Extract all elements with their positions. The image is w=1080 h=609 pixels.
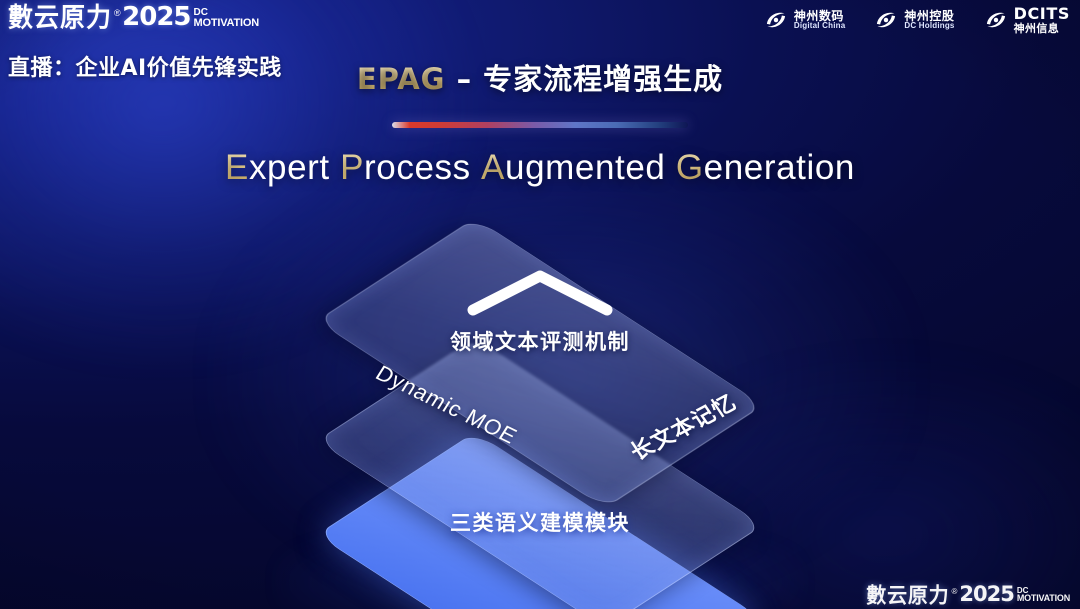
corp-en-1: DC Holdings — [904, 22, 954, 30]
watermark-year: 2025 — [959, 584, 1013, 605]
corp-cn-2: DCITS — [1014, 6, 1070, 23]
diagram-label-top: 领域文本评测机制 — [450, 326, 630, 356]
subtitle-rest-generation: eneration — [704, 148, 855, 187]
swirl-logo-icon — [873, 7, 899, 33]
subtitle-cap-a: A — [481, 148, 505, 187]
page-subtitle-english: Expert Process Augmented Generation — [0, 148, 1080, 188]
watermark-cn: 數云原力 — [866, 584, 949, 605]
corp-en-0: Digital China — [794, 22, 846, 30]
brand-logo: 數云原力 ® 2025 DC MOTIVATION — [8, 4, 259, 30]
brand-logo-cn: 數云原力 — [8, 4, 112, 31]
page-title-cn: 专家流程增强生成 — [483, 62, 723, 96]
swirl-logo-icon — [983, 7, 1009, 33]
subtitle-rest-process: rocess — [364, 148, 471, 187]
corp-logo-digital-china-text: 神州数码 Digital China — [794, 10, 846, 31]
corp-en-2: 神州信息 — [1014, 23, 1070, 35]
brand-logo-registered: ® — [114, 9, 120, 18]
diagram-label-bottom: 三类语义建模模块 — [450, 507, 630, 537]
corp-logo-dcits-text: DCITS 神州信息 — [1014, 6, 1070, 34]
page-title-acronym: EPAG — [357, 62, 446, 96]
title-divider — [392, 122, 688, 128]
watermark-registered: ® — [951, 588, 957, 596]
subtitle-cap-p: P — [340, 148, 364, 187]
subtitle-cap-g: G — [676, 148, 704, 187]
subtitle-cap-e: E — [225, 148, 249, 187]
subtitle-rest-expert: xpert — [249, 148, 330, 187]
footer-watermark-logo: 數云原力 ® 2025 DC MOTIVATION — [866, 584, 1070, 605]
layered-architecture-diagram: 领域文本评测机制 Dynamic MOE 长文本记忆 三类语义建模模块 — [0, 222, 1080, 562]
subtitle-rest-augmented: ugmented — [505, 148, 665, 187]
chevron-up-icon — [465, 264, 615, 320]
corp-logo-dc-holdings-text: 神州控股 DC Holdings — [904, 10, 954, 31]
swirl-logo-icon — [763, 7, 789, 33]
corp-logo-dc-holdings: 神州控股 DC Holdings — [873, 7, 954, 33]
corp-logo-dcits: DCITS 神州信息 — [983, 6, 1070, 34]
brand-logo-year: 2025 — [122, 4, 190, 30]
brand-logo-subtitle: DC MOTIVATION — [194, 8, 259, 30]
page-title: EPAG – 专家流程增强生成 — [0, 56, 1080, 98]
watermark-subtitle: DC MOTIVATION — [1017, 587, 1070, 605]
watermark-sub-motivation: MOTIVATION — [1017, 594, 1070, 603]
brand-logo-sub-motivation: MOTIVATION — [194, 18, 259, 28]
page-title-dash: – — [445, 62, 483, 96]
corp-logo-digital-china: 神州数码 Digital China — [763, 7, 846, 33]
corporate-logo-group: 神州数码 Digital China 神州控股 DC Holdings — [763, 6, 1070, 34]
